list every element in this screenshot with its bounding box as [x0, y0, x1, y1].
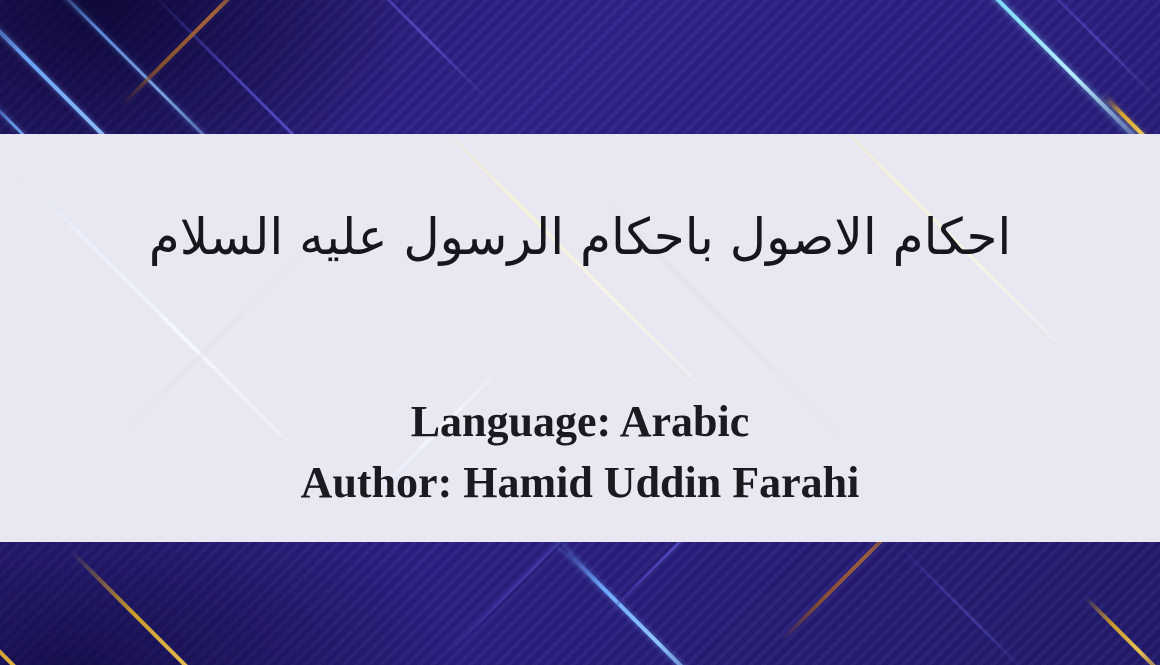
author-line: Author: Hamid Uddin Farahi	[0, 453, 1160, 514]
arabic-title: احكام الاصول باحكام الرسول عليه السلام	[0, 208, 1160, 267]
slide-metadata: Language: Arabic Author: Hamid Uddin Far…	[0, 392, 1160, 513]
language-line: Language: Arabic	[0, 392, 1160, 453]
presentation-slide: احكام الاصول باحكام الرسول عليه السلام L…	[0, 0, 1160, 665]
streak-pale-gold-1	[429, 134, 735, 421]
